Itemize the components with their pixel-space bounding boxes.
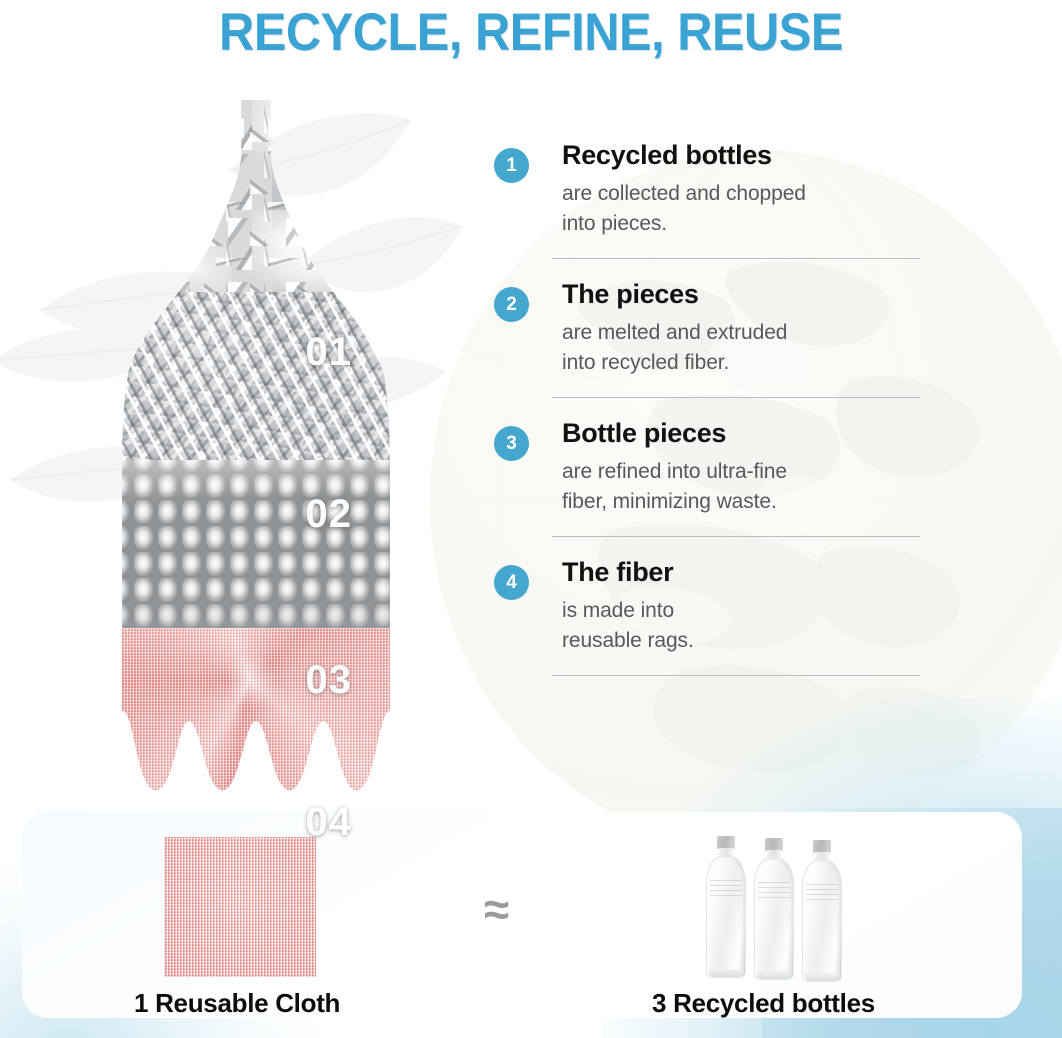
bottle-rings [806, 884, 838, 900]
step-divider-3 [552, 536, 920, 537]
mini-bottle-3 [802, 840, 842, 982]
step-body-4-line1: is made into [562, 596, 934, 626]
step-divider-1 [552, 258, 920, 259]
bottle-segment-01 [122, 100, 390, 292]
step-badge-2: 2 [494, 287, 529, 322]
step-body-1-line1: are collected and chopped [562, 179, 934, 209]
recycled-bottles-icon-group [706, 828, 846, 980]
step-title-2: The pieces [562, 277, 934, 311]
bottle-body [754, 858, 794, 980]
bottle-base [805, 973, 839, 981]
segment-number-03: 03 [306, 658, 353, 784]
process-step-3: 3 Bottle pieces are refined into ultra-f… [494, 416, 934, 517]
crushed-plastic-texture [122, 100, 390, 292]
comparison-panel: ≈ 1 Reu [22, 812, 1022, 1018]
step-title-4: The fiber [562, 555, 934, 589]
process-step-1: 1 Recycled bottles are collected and cho… [494, 138, 934, 239]
bottle-rings [710, 880, 742, 896]
step-badge-3: 3 [494, 426, 529, 461]
step-divider-4 [552, 675, 920, 676]
comparison-left-label: 1 Reusable Cloth [134, 988, 340, 1019]
bottle-diagram: 01 02 03 04 [122, 100, 390, 790]
mini-bottle-1 [706, 836, 746, 978]
step-body-3-line2: fiber, minimizing waste. [562, 487, 934, 517]
bottle-rings [758, 882, 790, 898]
process-step-list: 1 Recycled bottles are collected and cho… [494, 138, 934, 676]
step-body-3-line1: are refined into ultra-fine [562, 457, 934, 487]
reusable-cloth-swatch [164, 837, 316, 977]
process-step-4: 4 The fiber is made into reusable rags. [494, 555, 934, 656]
mini-bottle-2 [754, 838, 794, 980]
page-title: RECYCLE, REFINE, REUSE [42, 2, 1019, 64]
bottle-base [757, 971, 791, 979]
step-title-1: Recycled bottles [562, 138, 934, 172]
step-body-1-line2: into pieces. [562, 209, 934, 239]
approximately-equal-icon: ≈ [484, 886, 509, 932]
step-title-3: Bottle pieces [562, 416, 934, 450]
step-divider-2 [552, 397, 920, 398]
step-badge-4: 4 [494, 565, 529, 600]
process-step-2: 2 The pieces are melted and extruded int… [494, 277, 934, 378]
step-badge-1: 1 [494, 148, 529, 183]
step-body-4-line2: reusable rags. [562, 626, 934, 656]
comparison-right-label: 3 Recycled bottles [652, 988, 875, 1019]
bottle-body [706, 856, 746, 978]
step-body-2-line2: into recycled fiber. [562, 348, 934, 378]
bottle-base [709, 969, 743, 977]
bottle-body [802, 860, 842, 982]
step-body-2-line1: are melted and extruded [562, 318, 934, 348]
